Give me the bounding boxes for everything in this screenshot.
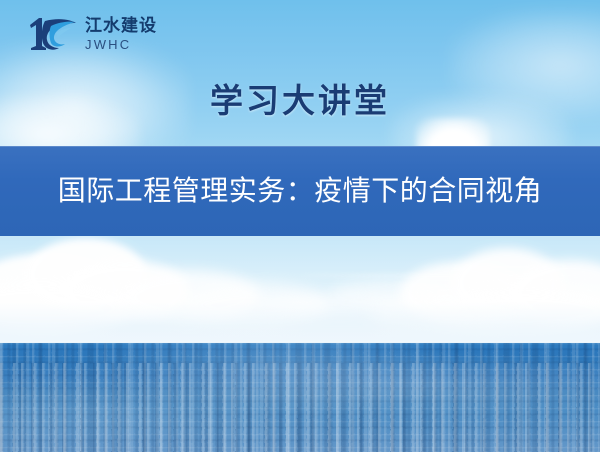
cloud-streak xyxy=(420,266,600,268)
page-headline: 学习大讲堂 xyxy=(0,74,600,122)
cloud-bank xyxy=(0,236,600,344)
cloud-streak xyxy=(350,284,600,286)
banner-title-text: 国际工程管理实务：疫情下的合同视角 xyxy=(58,176,543,207)
logo-company-en: JWHC xyxy=(85,38,157,51)
title-banner: 国际工程管理实务：疫情下的合同视角 xyxy=(0,146,600,236)
logo-company-cn: 江水建设 xyxy=(85,18,157,35)
jwhc-wave-logo-icon xyxy=(26,14,78,54)
sea-background xyxy=(0,343,600,452)
brand-logo[interactable]: 江水建设 JWHC xyxy=(26,14,157,54)
sea-wave-texture-fine xyxy=(0,363,600,452)
cloud-horizon-fade xyxy=(0,302,600,344)
poster-canvas: 学习大讲堂 国际工程管理实务：疫情下的合同视角 江水建设 JWHC xyxy=(0,0,600,452)
cloud-streak xyxy=(300,274,600,277)
logo-text-block: 江水建设 JWHC xyxy=(85,18,157,51)
